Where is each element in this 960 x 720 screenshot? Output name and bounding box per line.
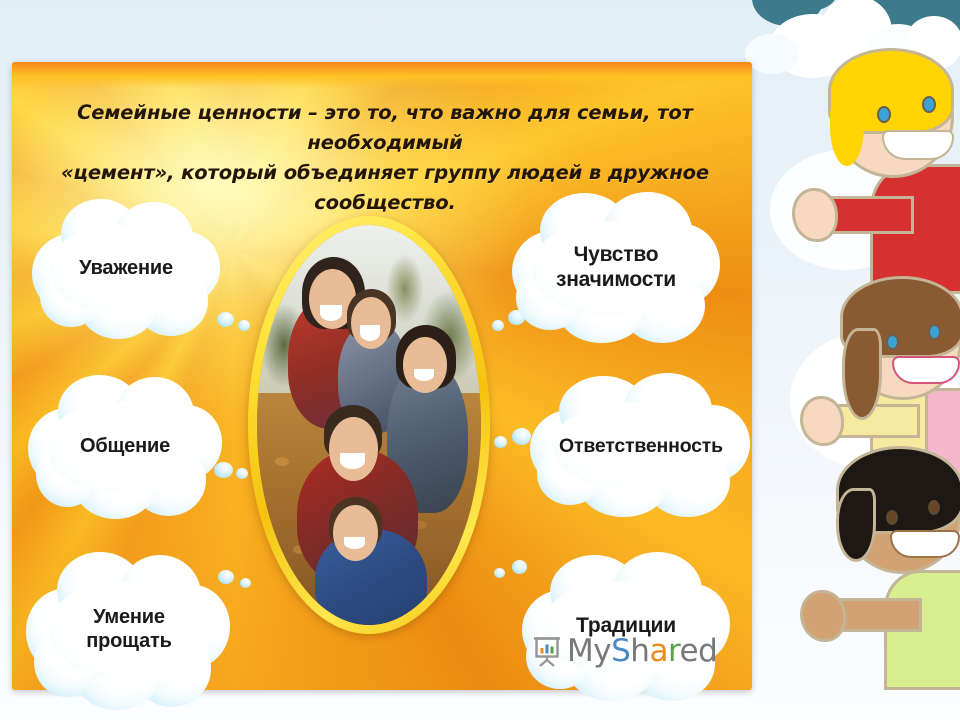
photo-smile	[414, 369, 434, 381]
cartoon-kid-dark-boy	[778, 438, 960, 688]
cloud-bubble-forgiveness[interactable]: Умение прощать	[26, 550, 232, 710]
heading-line-1: Семейные ценности – это то, что важно дл…	[77, 101, 693, 154]
cloud-label: Общение	[26, 372, 224, 522]
cloud-bubble-communication[interactable]: Общение	[26, 372, 224, 522]
cloud-label-line-1: Чувство	[574, 243, 659, 268]
cartoon-kid-blond-boy	[770, 46, 960, 296]
presentation-chart-icon	[533, 635, 563, 667]
kid-eye-left	[877, 106, 891, 123]
kid-eye-right	[928, 324, 941, 340]
cloud-shape: Чувство значимости	[510, 190, 722, 346]
kid-hair-pigtail	[842, 328, 882, 420]
wordmark-part-5: r	[668, 633, 680, 669]
cloud-bubble-traditions[interactable]: Традиции	[520, 550, 732, 704]
wordmark-part-1: My	[567, 633, 611, 669]
cloud-label-line-2: значимости	[556, 268, 676, 293]
cloud-label-line-1: Уважение	[79, 257, 173, 281]
photo-smile	[360, 325, 380, 341]
photo-head	[403, 337, 448, 393]
kid-eye-left	[886, 334, 899, 350]
cloud-shape: Общение	[26, 372, 224, 522]
photo-smile	[340, 453, 365, 469]
cloud-shape: Умение прощать	[26, 550, 232, 710]
thought-dot	[512, 428, 531, 445]
thought-dot	[236, 468, 248, 479]
cloud-label-line-1: Ответственность	[559, 435, 723, 458]
thought-dot	[494, 436, 507, 448]
thought-dot	[494, 568, 505, 578]
cloud-label: Умение прощать	[26, 550, 232, 710]
cloud-shape: Уважение	[28, 196, 224, 342]
cloud-bubble-responsibility[interactable]: Ответственность	[530, 372, 752, 520]
kid-eye-left	[886, 510, 898, 525]
photo-leaf	[275, 457, 289, 466]
cloud-shape: Традиции	[520, 550, 732, 704]
cloud-label: Чувство значимости	[510, 190, 722, 346]
kid-mouth	[892, 356, 960, 384]
cloud-label-line-2: прощать	[86, 630, 171, 654]
kid-hair-strand	[830, 86, 864, 166]
kid-mouth	[882, 130, 954, 160]
cloud-label: Уважение	[28, 196, 224, 342]
cloud-shape: Ответственность	[530, 372, 752, 520]
photo-smile	[344, 537, 364, 549]
thought-dot	[492, 320, 504, 331]
thought-dot	[238, 320, 250, 331]
panel-top-glow	[12, 62, 752, 88]
kid-mouth	[890, 530, 960, 558]
thought-dot	[240, 578, 251, 588]
kid-eye-right	[928, 500, 940, 515]
kid-eye-right	[922, 96, 936, 113]
cloud-bubble-significance[interactable]: Чувство значимости	[510, 190, 722, 346]
family-photo	[257, 225, 481, 625]
wordmark-part-2: S	[611, 633, 630, 669]
kid-hand	[792, 188, 838, 242]
cloud-label-line-1: Общение	[80, 435, 170, 459]
wordmark-part-4: a	[649, 633, 668, 669]
kid-hair-side	[836, 488, 876, 562]
photo-head	[329, 417, 378, 481]
wordmark-part-6: ed	[680, 633, 718, 669]
myshared-watermark: MyShared	[533, 633, 717, 669]
photo-head	[333, 505, 378, 561]
cloud-label: Ответственность	[530, 372, 752, 520]
myshared-wordmark: MyShared	[567, 633, 717, 669]
kid-hand	[800, 590, 846, 642]
cloud-label-line-1: Умение	[93, 606, 165, 630]
photo-smile	[320, 305, 342, 321]
family-photo-frame	[248, 216, 490, 634]
cloud-bubble-respect[interactable]: Уважение	[28, 196, 224, 342]
wordmark-part-3: h	[630, 633, 649, 669]
cloud-label: Традиции	[520, 550, 732, 704]
slide-canvas: Семейные ценности – это то, что важно дл…	[0, 0, 960, 720]
